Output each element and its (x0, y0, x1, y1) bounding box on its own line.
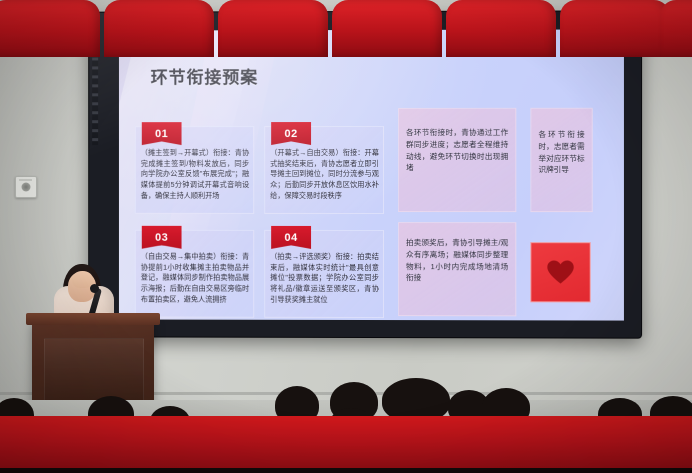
seat-back (0, 0, 100, 57)
microphone-head-icon (90, 284, 99, 293)
presentation-slide: 环节衔接预案 01 （摊主签到→开幕式）衔接：青协完成摊主签到/物料发放后，同步… (119, 29, 624, 320)
heart-icon (545, 257, 575, 287)
podium-top-surface (26, 313, 160, 325)
slide-title: 环节衔接预案 (151, 63, 258, 88)
step-card-04: 04 （拍卖→评选颁奖）衔接：拍卖结束后，融媒体实时统计"最具创意摊位"投票数据… (264, 230, 384, 318)
step-card-text: （自由交易→集中拍卖）衔接：青协提前1小时收集摊主拍卖物品并登记，融媒体同步制作… (141, 252, 249, 305)
step-card-02: 02 （开幕式→自由交易）衔接：开幕式抽奖结束后，青协志愿者立即引导摊主回到摊位… (264, 126, 384, 214)
step-number-badge: 03 (142, 226, 182, 249)
step-number-badge: 02 (271, 122, 311, 145)
seat-back (218, 0, 328, 57)
note-panel-top: 各环节衔接时，青协通过工作群同步进度；志愿者全程维持动线，避免环节切换时出现拥堵 (398, 108, 516, 212)
note-panel-side: 各环节衔接时，志愿者需举对应环节标识牌引导 (530, 108, 592, 212)
presentation-display: 环节衔接预案 01 （摊主签到→开幕式）衔接：青协完成摊主签到/物料发放后，同步… (89, 11, 641, 337)
step-card-01: 01 （摊主签到→开幕式）衔接：青协完成摊主签到/物料发放后，同步向学院办公室反… (135, 126, 254, 214)
podium-front-panel (44, 338, 144, 402)
seat-back (560, 0, 670, 57)
step-card-03: 03 （自由交易→集中拍卖）衔接：青协提前1小时收集摊主拍卖物品并登记，融媒体同… (135, 230, 254, 318)
lecture-hall-photo: 环节衔接预案 01 （摊主签到→开幕式）衔接：青协完成摊主签到/物料发放后，同步… (0, 0, 692, 473)
seat-back (660, 0, 692, 57)
photo-bottom-edge (0, 468, 692, 473)
heart-decoration-tile (530, 242, 590, 302)
seat-back (446, 0, 556, 57)
step-number-badge: 01 (142, 122, 182, 145)
step-number-badge: 04 (271, 226, 311, 249)
note-panel-bottom: 拍卖颁奖后，青协引导摊主/观众有序离场；融媒体同步整理物料，1小时内完成场地清场… (398, 222, 516, 316)
wall-sensor-icon (15, 176, 37, 198)
step-card-text: （摊主签到→开幕式）衔接：青协完成摊主签到/物料发放后，同步向学院办公室反馈"布… (141, 148, 249, 201)
seat-back (332, 0, 442, 57)
seat-back (104, 0, 214, 57)
audience-seating (0, 416, 692, 473)
step-card-text: （开幕式→自由交易）衔接：开幕式抽奖结束后，青协志愿者立即引导摊主回到摊位，同时… (270, 148, 379, 201)
step-card-text: （拍卖→评选颁奖）衔接：拍卖结束后，融媒体实时统计"最具创意摊位"投票数据；学院… (270, 252, 379, 305)
